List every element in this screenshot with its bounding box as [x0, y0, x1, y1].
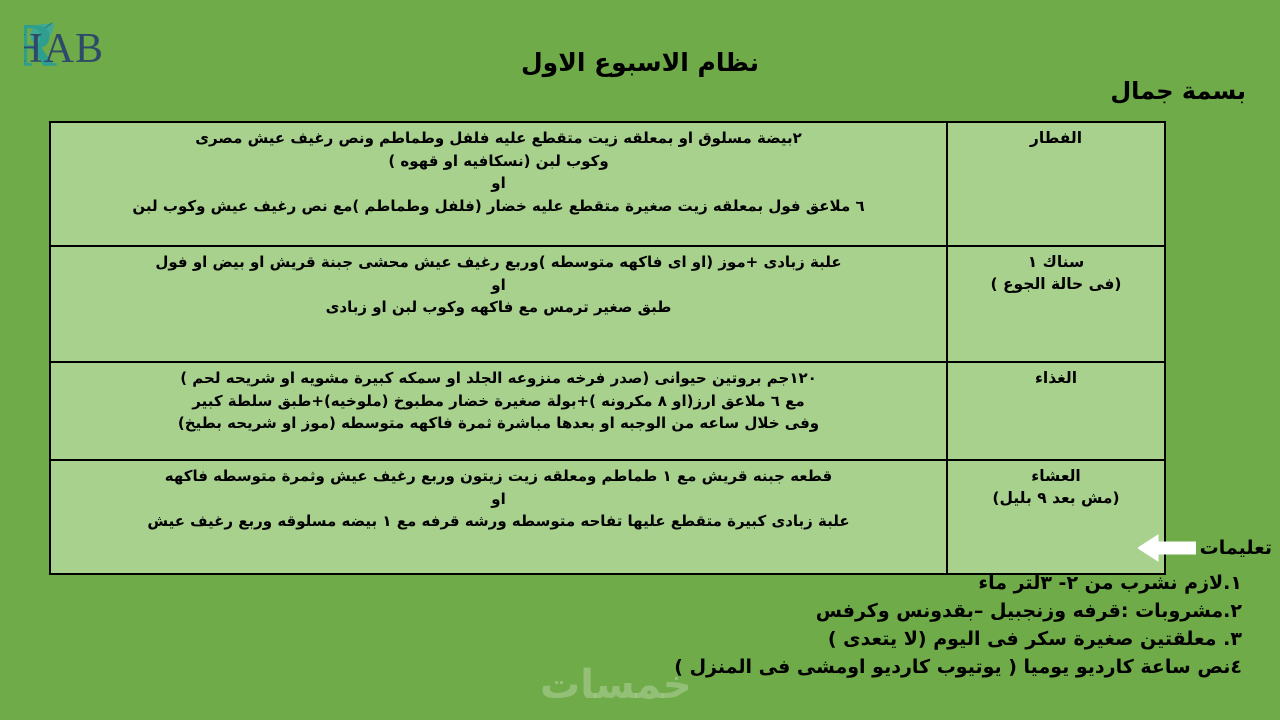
arrow-left-icon	[1138, 533, 1196, 563]
meal-line: وفى خلال ساعه من الوجبه او بعدها مباشرة …	[59, 412, 938, 435]
meal-label-cell: العشاء (مش بعد ٩ بليل)	[947, 460, 1165, 574]
watermark: خمسات	[540, 662, 692, 708]
list-item: ٤نص ساعة كارديو يوميا ( يوتيوب كارديو او…	[674, 654, 1242, 682]
meal-sub-label: (مش بعد ٩ بليل)	[956, 487, 1156, 509]
table-row: العشاء (مش بعد ٩ بليل) قطعه جبنه قريش مع…	[50, 460, 1165, 574]
meal-line: مع ٦ ملاعق ارز(او ٨ مكرونه )+بولة صغيرة …	[59, 390, 938, 413]
meal-line: وكوب لبن (نسكافيه او قهوه )	[59, 150, 938, 173]
meal-line: ٦ ملاعق فول بمعلقه زيت صغيرة متقطع عليه …	[59, 195, 938, 218]
meal-label-text: الغذاء	[1035, 369, 1077, 387]
meal-line: قطعه جبنه قريش مع ١ طماطم ومعلقه زيت زيت…	[59, 465, 938, 488]
meal-label-cell: سناك ١ (فى حالة الجوع )	[947, 246, 1165, 362]
meal-line: او	[59, 274, 938, 297]
meal-line: علبة زبادى كبيرة متقطع عليها تفاحه متوسط…	[59, 510, 938, 533]
list-item: ٢.مشروبات :قرفه وزنجبيل –بقدونس وكرفس	[674, 598, 1242, 626]
meal-label-text: العشاء	[1031, 467, 1080, 485]
meal-label-text: الفطار	[1030, 129, 1082, 147]
instructions-heading: تعليمات	[1200, 537, 1272, 559]
meal-line: ٢بيضة مسلوق او بمعلقه زيت متقطع عليه فلف…	[59, 127, 938, 150]
meal-label-text: سناك ١	[1028, 253, 1084, 271]
meal-label-cell: الغذاء	[947, 362, 1165, 460]
meal-body-cell: علبة زبادى +موز (او اى فاكهه متوسطه )ورب…	[50, 246, 947, 362]
list-item: ٣. معلقتين صغيرة سكر فى اليوم (لا يتعدى …	[674, 626, 1242, 654]
diet-plan-table: الفطار ٢بيضة مسلوق او بمعلقه زيت متقطع ع…	[49, 121, 1166, 575]
instructions-header: تعليمات	[1138, 533, 1272, 563]
meal-label-cell: الفطار	[947, 122, 1165, 246]
meal-line: او	[59, 488, 938, 511]
patient-name: بسمة جمال	[1110, 77, 1246, 105]
meal-body-cell: قطعه جبنه قريش مع ١ طماطم ومعلقه زيت زيت…	[50, 460, 947, 574]
table-row: سناك ١ (فى حالة الجوع ) علبة زبادى +موز …	[50, 246, 1165, 362]
table-row: الفطار ٢بيضة مسلوق او بمعلقه زيت متقطع ع…	[50, 122, 1165, 246]
meal-line: طبق صغير ترمس مع فاكهه وكوب لبن او زبادى	[59, 296, 938, 319]
meal-line: ١٢٠جم بروتين حيوانى (صدر فرخه منزوعه الج…	[59, 367, 938, 390]
meal-line: علبة زبادى +موز (او اى فاكهه متوسطه )ورب…	[59, 251, 938, 274]
meal-body-cell: ١٢٠جم بروتين حيوانى (صدر فرخه منزوعه الج…	[50, 362, 947, 460]
table-row: الغذاء ١٢٠جم بروتين حيوانى (صدر فرخه منز…	[50, 362, 1165, 460]
list-item: ١.لازم نشرب من ٢- ٣لتر ماء	[674, 570, 1242, 598]
meal-body-cell: ٢بيضة مسلوق او بمعلقه زيت متقطع عليه فلف…	[50, 122, 947, 246]
meal-line: او	[59, 172, 938, 195]
instructions-list: ١.لازم نشرب من ٢- ٣لتر ماء ٢.مشروبات :قر…	[674, 570, 1242, 682]
meal-sub-label: (فى حالة الجوع )	[956, 273, 1156, 295]
page-title: نظام الاسبوع الاول	[0, 48, 1280, 77]
